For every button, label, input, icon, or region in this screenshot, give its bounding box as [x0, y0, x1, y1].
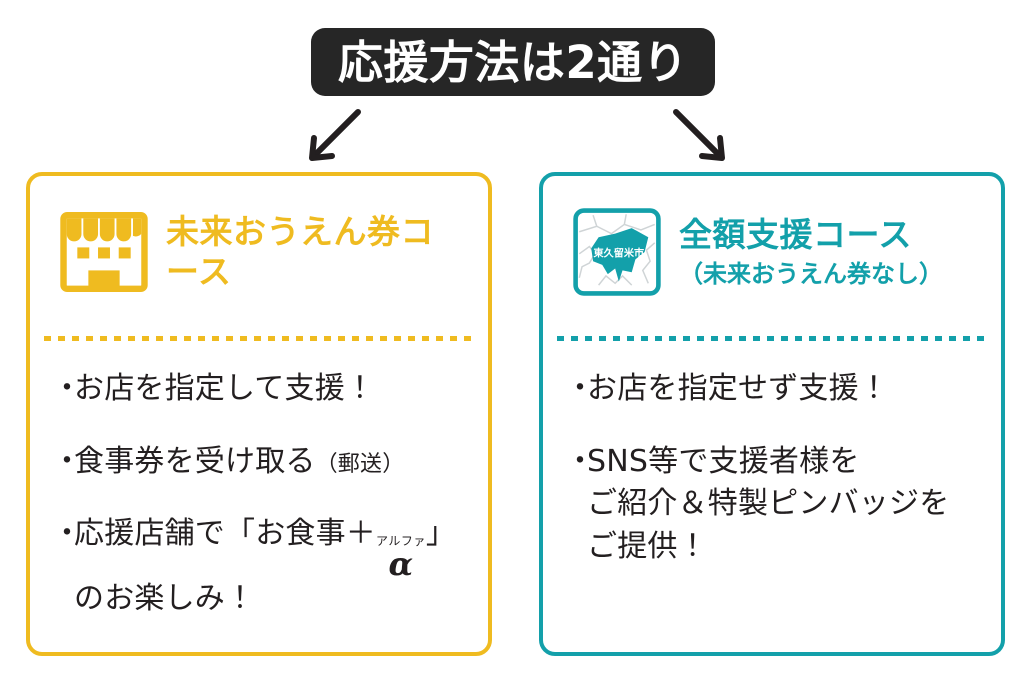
card-header: 東久留米市 全額支援コース （未来おうえん券なし）	[543, 176, 1001, 300]
svg-text:東久留米市: 東久留米市	[594, 247, 645, 260]
bullet-line: 食事券を受け取る（郵送）	[74, 441, 470, 484]
bullet-line: のお楽しみ！	[74, 578, 470, 621]
card-title: 全額支援コース	[679, 215, 943, 255]
card-divider	[44, 336, 474, 341]
course-card-zengaku-shien[interactable]: 東久留米市 全額支援コース （未来おうえん券なし） ・ お店を指定せず支援！ ・…	[539, 172, 1005, 656]
list-item: ・ お店を指定して支援！	[52, 368, 470, 411]
bullet-line: ご提供！	[587, 526, 983, 569]
bullet-line: SNS等で支援者様を	[587, 441, 983, 484]
list-item: ・ お店を指定せず支援！	[565, 368, 983, 411]
bullet-marker: ・	[52, 513, 74, 556]
card-bullet-list: ・ お店を指定せず支援！ ・ SNS等で支援者様を ご紹介＆特製ピンバッジを ご…	[565, 368, 983, 568]
list-item: ・ 応援店舗で「お食事＋アルファα」 のお楽しみ！	[52, 513, 470, 621]
bullet-marker: ・	[52, 441, 74, 484]
bullet-text: 食事券を受け取る（郵送）	[74, 441, 470, 484]
bullet-note-text: （郵送）	[316, 452, 405, 477]
bullet-text: お店を指定せず支援！	[587, 368, 983, 411]
arrow-to-left-card	[292, 106, 372, 168]
alpha-ruby-annotation: アルファα	[376, 535, 426, 580]
bullet-marker: ・	[565, 441, 587, 484]
list-item: ・ SNS等で支援者様を ご紹介＆特製ピンバッジを ご提供！	[565, 441, 983, 569]
card-subtitle: （未来おうえん券なし）	[679, 260, 943, 289]
card-title: 未来おうえん券コース	[166, 212, 466, 293]
bullet-main-text: 応援店舗で「お食事＋	[74, 516, 376, 551]
page-title: 応援方法は2通り	[338, 40, 688, 85]
bullet-text: お店を指定して支援！	[74, 368, 470, 411]
page-title-badge: 応援方法は2通り	[311, 28, 715, 96]
bullet-main-text: 食事券を受け取る	[74, 444, 316, 479]
storefront-icon	[58, 206, 150, 298]
ruby-base-alpha: α	[389, 548, 414, 580]
card-bullet-list: ・ お店を指定して支援！ ・ 食事券を受け取る（郵送） ・ 応援店舗で「お食事＋…	[52, 368, 470, 621]
bullet-marker: ・	[52, 368, 74, 411]
bullet-text: SNS等で支援者様を ご紹介＆特製ピンバッジを ご提供！	[587, 441, 983, 569]
bullet-line: 応援店舗で「お食事＋アルファα」	[74, 513, 470, 578]
bullet-line: お店を指定して支援！	[74, 368, 470, 411]
bullet-closing-bracket: 」	[426, 516, 456, 551]
card-header: 未来おうえん券コース	[30, 176, 488, 300]
city-map-icon: 東久留米市	[571, 206, 663, 298]
bullet-text: 応援店舗で「お食事＋アルファα」 のお楽しみ！	[74, 513, 470, 621]
course-card-mirai-ouenken[interactable]: 未来おうえん券コース ・ お店を指定して支援！ ・ 食事券を受け取る（郵送） ・…	[26, 172, 492, 656]
bullet-marker: ・	[565, 368, 587, 411]
bullet-line: お店を指定せず支援！	[587, 368, 983, 411]
bullet-line: ご紹介＆特製ピンバッジを	[587, 483, 983, 526]
card-divider	[557, 336, 987, 341]
arrow-to-right-card	[662, 106, 742, 168]
card-title-wrap: 未来おうえん券コース	[166, 212, 466, 293]
card-title-wrap: 全額支援コース （未来おうえん券なし）	[679, 215, 943, 288]
list-item: ・ 食事券を受け取る（郵送）	[52, 441, 470, 484]
